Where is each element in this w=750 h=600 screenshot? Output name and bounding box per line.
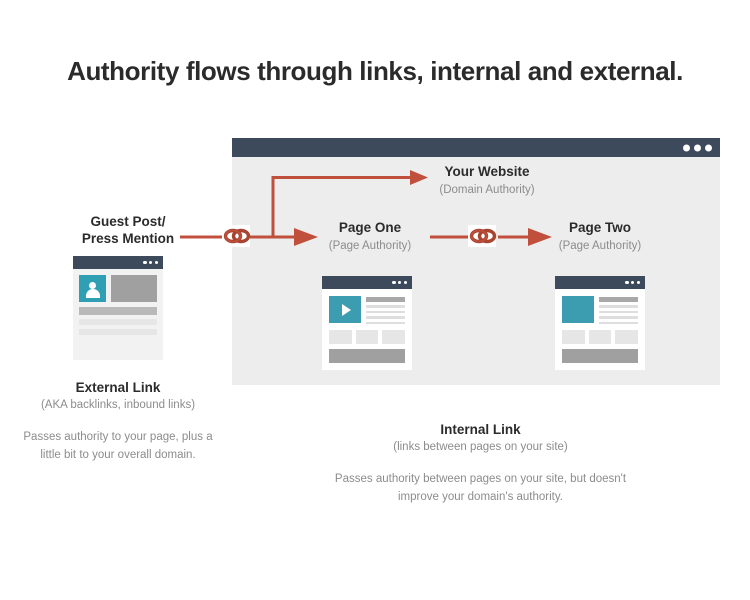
mockup-text-line bbox=[366, 305, 405, 308]
page-two-mockup bbox=[555, 276, 645, 370]
page-two-subtitle: (Page Authority) bbox=[530, 239, 670, 253]
window-dot-icon bbox=[149, 261, 152, 264]
chain-link-icon bbox=[468, 225, 496, 247]
mockup-text-line bbox=[366, 322, 405, 325]
caption-internal-link: Internal Link (links between pages on yo… bbox=[318, 422, 643, 507]
chain-link-icon bbox=[222, 225, 250, 247]
mockup-card bbox=[562, 330, 585, 344]
mockup-card bbox=[589, 330, 612, 344]
person-head-icon bbox=[89, 282, 96, 289]
mockup-text-lines bbox=[366, 296, 405, 324]
mockup-text-line bbox=[599, 311, 638, 314]
node-label-your-website: Your Website (Domain Authority) bbox=[402, 164, 572, 197]
mockup-top-row bbox=[329, 296, 405, 324]
guest-post-line-1: Guest Post/ bbox=[48, 214, 208, 231]
mockup-content-bar-light bbox=[79, 329, 157, 335]
window-dot-icon bbox=[155, 261, 158, 264]
internal-link-subtitle: (links between pages on your site) bbox=[318, 441, 643, 453]
mockup-text-line bbox=[366, 316, 405, 319]
external-link-description: Passes authority to your page, plus a li… bbox=[18, 429, 218, 465]
mockup-body bbox=[555, 289, 645, 370]
page-two-title: Page Two bbox=[530, 220, 670, 237]
page-one-subtitle: (Page Authority) bbox=[300, 239, 440, 253]
internal-link-title: Internal Link bbox=[318, 422, 643, 437]
external-link-subtitle: (AKA backlinks, inbound links) bbox=[18, 399, 218, 411]
person-body-icon bbox=[86, 289, 100, 298]
your-website-subtitle: (Domain Authority) bbox=[402, 183, 572, 197]
mockup-content-bar bbox=[79, 307, 157, 315]
mockup-heading-bar bbox=[599, 297, 638, 302]
mockup-footer-bar bbox=[329, 349, 405, 363]
node-label-guest-post: Guest Post/ Press Mention bbox=[48, 214, 208, 248]
mockup-footer-bar bbox=[562, 349, 638, 363]
mockup-body bbox=[73, 269, 163, 341]
mockup-card bbox=[382, 330, 405, 344]
person-avatar-icon bbox=[79, 275, 106, 302]
mockup-text-line bbox=[599, 322, 638, 325]
mockup-body bbox=[322, 289, 412, 370]
mockup-card bbox=[615, 330, 638, 344]
mockup-card bbox=[329, 330, 352, 344]
mockup-content-block bbox=[111, 275, 157, 302]
node-label-page-one: Page One (Page Authority) bbox=[300, 220, 440, 253]
window-dot-icon bbox=[631, 281, 634, 284]
image-placeholder-icon bbox=[562, 296, 594, 323]
internal-link-description: Passes authority between pages on your s… bbox=[318, 471, 643, 507]
window-dot-icon bbox=[637, 281, 640, 284]
mockup-titlebar bbox=[322, 276, 412, 289]
mockup-top-row bbox=[562, 296, 638, 324]
your-website-title: Your Website bbox=[402, 164, 572, 181]
node-label-page-two: Page Two (Page Authority) bbox=[530, 220, 670, 253]
mockup-text-lines bbox=[599, 296, 638, 324]
window-dot-icon bbox=[398, 281, 401, 284]
mockup-content-bar-light bbox=[79, 319, 157, 325]
window-dot-icon bbox=[143, 261, 146, 264]
person-glyph bbox=[86, 280, 100, 298]
mockup-top-row bbox=[79, 275, 157, 302]
mockup-text-line bbox=[599, 305, 638, 308]
window-dot-icon bbox=[404, 281, 407, 284]
guest-post-line-2: Press Mention bbox=[48, 231, 208, 248]
mockup-card-row bbox=[329, 330, 405, 344]
mockup-titlebar bbox=[555, 276, 645, 289]
window-dot-icon bbox=[625, 281, 628, 284]
mockup-card-row bbox=[562, 330, 638, 344]
caption-external-link: External Link (AKA backlinks, inbound li… bbox=[18, 380, 218, 465]
external-link-title: External Link bbox=[18, 380, 218, 395]
mockup-titlebar bbox=[73, 256, 163, 269]
page-one-title: Page One bbox=[300, 220, 440, 237]
play-button-icon bbox=[342, 304, 351, 316]
connector-line-to-your-website bbox=[272, 176, 414, 179]
external-site-mockup bbox=[73, 256, 163, 360]
infographic-canvas: Authority flows through links, internal … bbox=[0, 0, 750, 600]
mockup-text-line bbox=[366, 311, 405, 314]
mockup-text-line bbox=[599, 316, 638, 319]
connector-riser-vertical bbox=[272, 176, 275, 237]
mockup-card bbox=[356, 330, 379, 344]
window-dot-icon bbox=[392, 281, 395, 284]
mockup-heading-bar bbox=[366, 297, 405, 302]
video-thumbnail bbox=[329, 296, 361, 323]
page-one-mockup bbox=[322, 276, 412, 370]
